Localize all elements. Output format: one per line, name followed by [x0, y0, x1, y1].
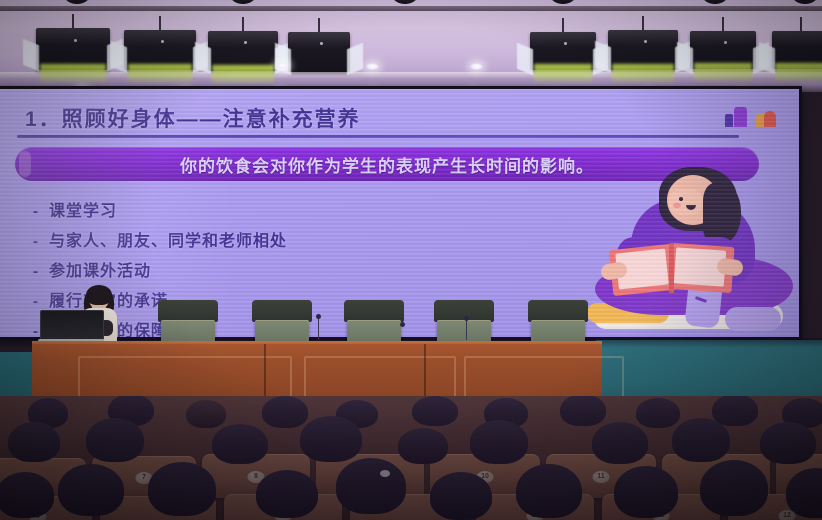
- lecture-hall-photo: 1．照顾好身体——注意补充营养 你的饮食会对你作为学生的表现产生长时间的影响。 …: [0, 0, 822, 520]
- illustration-cheek: [673, 203, 681, 208]
- audience-seating: 7 8 9 10 11 12 13 6: [0, 396, 822, 520]
- light-rig-mount: [790, 0, 820, 4]
- chair-back: [344, 300, 404, 322]
- microphone-head: [464, 316, 469, 321]
- stage-chair: [252, 300, 312, 342]
- light-glow: [40, 64, 105, 82]
- stage-light-fixture: [36, 28, 110, 70]
- light-glow: [534, 64, 592, 82]
- chair-back: [158, 300, 218, 322]
- bullet-dash-icon: -: [33, 203, 49, 220]
- light-glow: [128, 64, 191, 82]
- decor-block-purple-dark: [725, 114, 733, 127]
- microphone-stem: [466, 320, 467, 340]
- light-rig-mount: [700, 0, 730, 4]
- light-beam-left: [517, 43, 533, 75]
- stage-light-fixture: [208, 31, 278, 71]
- bullet-dash-icon: -: [33, 233, 49, 250]
- list-item: - 与家人、朋友、同学和老师相处: [33, 227, 287, 251]
- light-glow: [775, 63, 822, 81]
- stage-light-fixture: [772, 31, 822, 69]
- presenter-hair: [86, 285, 112, 305]
- light-rig-mount: [390, 0, 420, 4]
- light-rig-mount: [62, 0, 92, 4]
- microphone-stem: [318, 318, 319, 340]
- light-beam-left: [23, 39, 39, 71]
- bullet-label: 参加课外活动: [49, 257, 151, 281]
- stage-light-fixture: [690, 31, 756, 69]
- chair-seat: [437, 320, 491, 342]
- illustration-book-spine: [669, 243, 674, 293]
- microphone-head: [316, 314, 321, 319]
- stage-light-fixture: [530, 32, 596, 70]
- light-rig-mount: [228, 0, 258, 4]
- light-rig-mount: [548, 0, 578, 4]
- audience-shading: [0, 396, 822, 520]
- list-item: - 课堂学习: [33, 197, 287, 221]
- stage-chair: [434, 300, 494, 342]
- light-glow: [694, 63, 752, 81]
- stage-light-fixture: [288, 32, 350, 72]
- illustration-eye: [679, 197, 683, 201]
- bullet-label: 课堂学习: [49, 197, 117, 221]
- stage-light-fixture: [608, 30, 678, 70]
- illustration-sock-right: [725, 307, 781, 331]
- stage-chair: [344, 300, 404, 342]
- light-glow: [612, 64, 674, 82]
- title-underline: [17, 135, 739, 138]
- stage-light-fixture: [124, 30, 196, 70]
- chair-back: [528, 300, 588, 322]
- downlight: [366, 63, 379, 70]
- stage-chair: [158, 300, 218, 342]
- slide-title: 1．照顾好身体——注意补充营养: [25, 103, 361, 133]
- downlight: [470, 63, 483, 70]
- downlight: [276, 62, 289, 69]
- bullet-dash-icon: -: [33, 293, 49, 310]
- laptop: [38, 310, 104, 344]
- light-beam-right: [347, 43, 363, 75]
- light-glow: [212, 65, 274, 83]
- ceiling-beam: [0, 6, 822, 11]
- bullet-dash-icon: -: [33, 263, 49, 280]
- illustration-hair-side: [703, 183, 741, 243]
- decor-block-purple: [734, 107, 747, 127]
- chair-seat: [255, 320, 309, 342]
- ceiling: [0, 0, 822, 92]
- microphone-head: [400, 322, 405, 327]
- person-reading-book-illustration: [587, 167, 793, 337]
- light-body: [288, 32, 350, 72]
- chair-seat: [347, 320, 401, 342]
- chair-back: [252, 300, 312, 322]
- illustration-face: [669, 189, 703, 215]
- bullet-label: 与家人、朋友、同学和老师相处: [49, 227, 287, 251]
- list-item: - 参加课外活动: [33, 257, 287, 281]
- chair-seat: [161, 320, 215, 342]
- chair-seat: [531, 320, 585, 342]
- decor-block-red: [764, 111, 776, 127]
- stage-chair: [528, 300, 588, 342]
- laptop-screen: [40, 310, 104, 340]
